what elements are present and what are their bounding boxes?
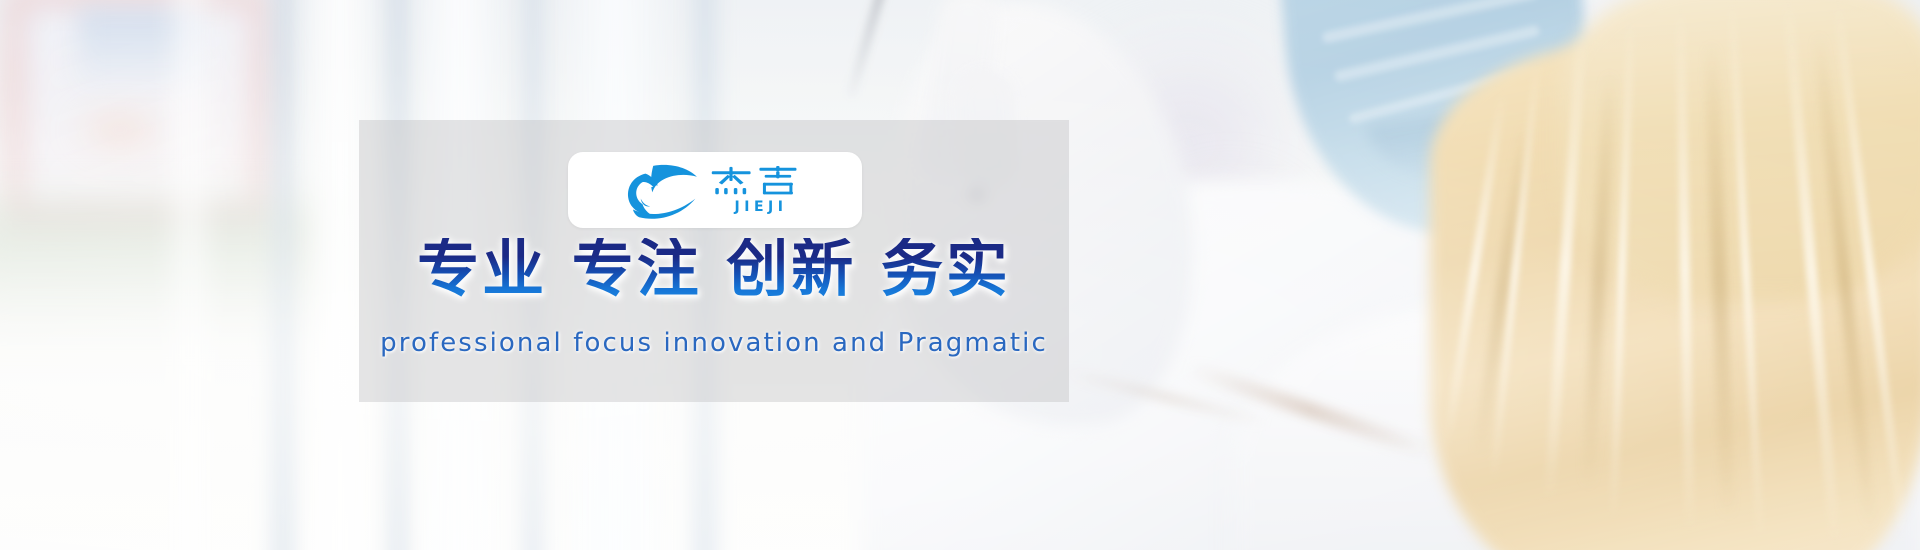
logo-latin-name: JIEJI [731, 200, 788, 214]
background-light-column [160, 0, 220, 550]
jieji-swoosh-logo-icon [622, 161, 700, 219]
hero-banner: JIEJI 专业 专注 创新 务实 professional focus inn… [0, 0, 1920, 550]
subtitle-slogan: professional focus innovation and Pragma… [359, 330, 1069, 356]
company-logo-plaque: JIEJI [568, 152, 862, 228]
logo-wordmark: JIEJI [710, 166, 809, 214]
headline-slogan: 专业 专注 创新 务实 [359, 238, 1069, 300]
logo-chinese-characters-icon [710, 166, 809, 196]
background-light-column [268, 0, 298, 550]
